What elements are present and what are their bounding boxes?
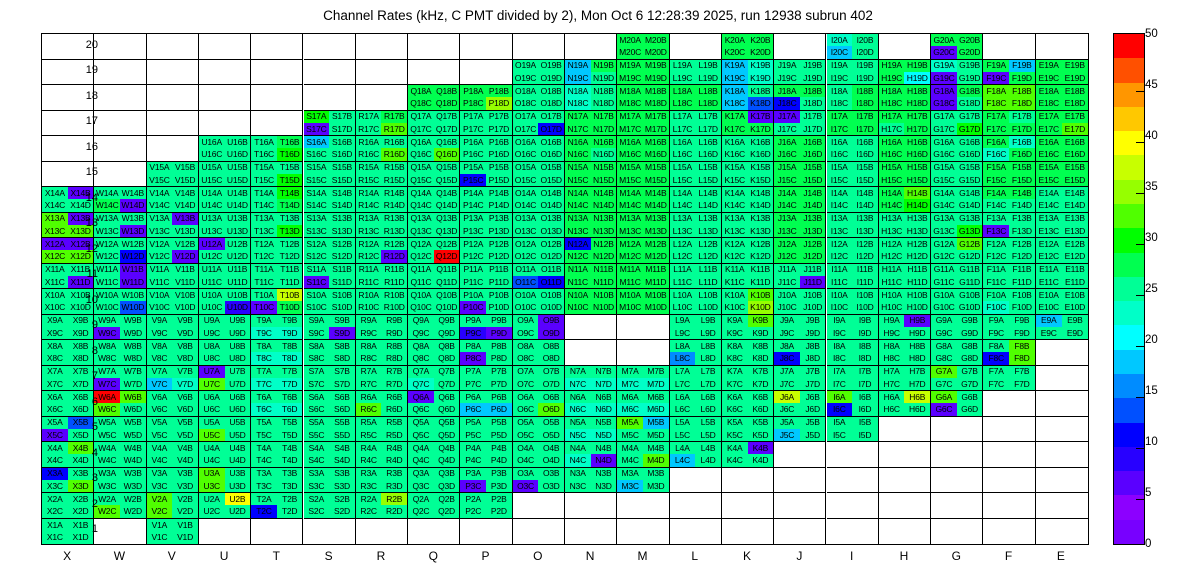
grid-cell-O20 — [513, 34, 565, 60]
channel-K11D: K11D — [748, 276, 774, 288]
channel-U14B: U14B — [225, 187, 251, 199]
channel-T2B: T2B — [277, 493, 303, 505]
grid-cell-K5: K5AK5BK5CK5D — [722, 417, 774, 443]
channel-O11D: O11D — [538, 276, 564, 288]
grid-cell-W18 — [94, 85, 146, 111]
channel-S4D: S4D — [329, 454, 355, 466]
grid-cell-V11: V11AV11BV11CV11D — [147, 264, 199, 290]
channel-O9A: O9A — [513, 315, 539, 327]
channel-R16C: R16C — [356, 148, 382, 160]
channel-G18C: G18C — [931, 97, 957, 109]
channel-K15D: K15D — [748, 174, 774, 186]
channel-L8D: L8D — [695, 352, 721, 364]
channel-G9C: G9C — [931, 327, 957, 339]
channel-I18B: I18B — [852, 85, 878, 97]
channel-F14A: F14A — [983, 187, 1009, 199]
channel-M16C: M16C — [617, 148, 643, 160]
channel-P14A: P14A — [460, 187, 486, 199]
colorbar-segment — [1114, 471, 1144, 495]
channel-O17B: O17B — [538, 111, 564, 123]
channel-R11C: R11C — [356, 276, 382, 288]
channel-L19D: L19D — [695, 72, 721, 84]
channel-T4C: T4C — [251, 454, 277, 466]
channel-P14D: P14D — [486, 199, 512, 211]
channel-E10C: E10C — [1036, 301, 1062, 313]
channel-N16C: N16C — [565, 148, 591, 160]
channel-U13B: U13B — [225, 213, 251, 225]
channel-P11D: P11D — [486, 276, 512, 288]
channel-S8C: S8C — [304, 352, 330, 364]
grid-cell-M6: M6AM6BM6CM6D — [617, 391, 669, 417]
channel-F18D: F18D — [1009, 97, 1035, 109]
channel-S13A: S13A — [304, 213, 330, 225]
channel-F16C: F16C — [983, 148, 1009, 160]
channel-S8D: S8D — [329, 352, 355, 364]
x-axis-label-E: E — [1031, 549, 1091, 563]
channel-E16D: E16D — [1062, 148, 1088, 160]
channel-H10A: H10A — [879, 289, 905, 301]
channel-R16A: R16A — [356, 136, 382, 148]
grid-cell-T5: T5AT5BT5CT5D — [251, 417, 303, 443]
channel-U5D: U5D — [225, 429, 251, 441]
channel-S9C: S9C — [304, 327, 330, 339]
channel-G15D: G15D — [957, 174, 983, 186]
channel-H12A: H12A — [879, 238, 905, 250]
channel-O17A: O17A — [513, 111, 539, 123]
channel-V5A: V5A — [147, 417, 173, 429]
grid-cell-S11: S11AS11BS11CS11D — [304, 264, 356, 290]
grid-cell-U9: U9AU9BU9CU9D — [199, 315, 251, 341]
channel-I8A: I8A — [827, 340, 853, 352]
channel-P16B: P16B — [486, 136, 512, 148]
colorbar-tick-25: 25 — [1145, 283, 1158, 295]
channel-G14B: G14B — [957, 187, 983, 199]
grid-cell-W20 — [94, 34, 146, 60]
grid-cell-S20 — [304, 34, 356, 60]
grid-cell-T9: T9AT9BT9CT9D — [251, 315, 303, 341]
channel-T9B: T9B — [277, 315, 303, 327]
channel-O4C: O4C — [513, 454, 539, 466]
channel-U14D: U14D — [225, 199, 251, 211]
channel-T10B: T10B — [277, 289, 303, 301]
channel-W12C: W12C — [94, 250, 120, 262]
channel-Q6C: Q6C — [408, 403, 434, 415]
channel-J15D: J15D — [800, 174, 826, 186]
channel-X5A: X5A — [42, 417, 68, 429]
grid-cell-I8: I8AI8BI8CI8D — [827, 340, 879, 366]
grid-cell-R4: R4AR4BR4CR4D — [356, 442, 408, 468]
channel-U12A: U12A — [199, 238, 225, 250]
grid-cell-W12: W12AW12BW12CW12D — [94, 238, 146, 264]
grid-cell-G7: G7AG7BG7CG7D — [931, 366, 983, 392]
channel-I5A: I5A — [827, 417, 853, 429]
grid-cell-H19: H19AH19BH19CH19D — [879, 60, 931, 86]
channel-Q16B: Q16B — [434, 136, 460, 148]
channel-G11C: G11C — [931, 276, 957, 288]
channel-K14A: K14A — [722, 187, 748, 199]
channel-I20D: I20D — [852, 46, 878, 58]
channel-L7B: L7B — [695, 366, 721, 378]
channel-J19C: J19C — [774, 72, 800, 84]
channel-Q3A: Q3A — [408, 468, 434, 480]
channel-P9D: P9D — [486, 327, 512, 339]
channel-J5D: J5D — [800, 429, 826, 441]
grid-cell-G20: G20AG20BG20CG20D — [931, 34, 983, 60]
channel-Q15B: Q15B — [434, 162, 460, 174]
channel-K9D: K9D — [748, 327, 774, 339]
grid-cell-Q4: Q4AQ4BQ4CQ4D — [408, 442, 460, 468]
grid-cell-O10: O10AO10BO10CO10D — [513, 289, 565, 315]
grid-cell-K12: K12AK12BK12CK12D — [722, 238, 774, 264]
channel-T8B: T8B — [277, 340, 303, 352]
channel-S7B: S7B — [329, 366, 355, 378]
channel-J16B: J16B — [800, 136, 826, 148]
channel-H18B: H18B — [904, 85, 930, 97]
channel-E17C: E17C — [1036, 123, 1062, 135]
channel-L15D: L15D — [695, 174, 721, 186]
grid-cell-Q6: Q6AQ6BQ6CQ6D — [408, 391, 460, 417]
grid-cell-J9: J9AJ9BJ9CJ9D — [774, 315, 826, 341]
channel-F7B: F7B — [1009, 366, 1035, 378]
channel-S16D: S16D — [329, 148, 355, 160]
channel-E15B: E15B — [1062, 162, 1088, 174]
channel-K17A: K17A — [722, 111, 748, 123]
channel-K11C: K11C — [722, 276, 748, 288]
channel-X14C: X14C — [42, 199, 68, 211]
grid-cell-K17: K17AK17BK17CK17D — [722, 111, 774, 137]
channel-W2D: W2D — [120, 505, 146, 517]
channel-X10C: X10C — [42, 301, 68, 313]
channel-Q14A: Q14A — [408, 187, 434, 199]
channel-F9B: F9B — [1009, 315, 1035, 327]
channel-F11D: F11D — [1009, 276, 1035, 288]
channel-E14D: E14D — [1062, 199, 1088, 211]
channel-Q10C: Q10C — [408, 301, 434, 313]
grid-cell-S18 — [304, 85, 356, 111]
channel-N12A: N12A — [565, 238, 591, 250]
channel-E16B: E16B — [1062, 136, 1088, 148]
channel-M17D: M17D — [643, 123, 669, 135]
channel-I17B: I17B — [852, 111, 878, 123]
channel-Q2D: Q2D — [434, 505, 460, 517]
channel-J12A: J12A — [774, 238, 800, 250]
channel-W3C: W3C — [94, 480, 120, 492]
channel-E16A: E16A — [1036, 136, 1062, 148]
channel-V8A: V8A — [147, 340, 173, 352]
x-axis-label-K: K — [717, 549, 777, 563]
grid-cell-L4: L4AL4BL4CL4D — [670, 442, 722, 468]
channel-E18D: E18D — [1062, 97, 1088, 109]
grid-cell-E1 — [1036, 519, 1088, 545]
grid-cell-Q1 — [408, 519, 460, 545]
channel-F11B: F11B — [1009, 264, 1035, 276]
channel-S14C: S14C — [304, 199, 330, 211]
channel-V1A: V1A — [147, 519, 173, 532]
grid-cell-N6: N6AN6BN6CN6D — [565, 391, 617, 417]
channel-F7C: F7C — [983, 378, 1009, 390]
grid-cell-E8 — [1036, 340, 1088, 366]
grid-cell-T10: T10AT10BT10CT10D — [251, 289, 303, 315]
channel-V12C: V12C — [147, 250, 173, 262]
channel-P4C: P4C — [460, 454, 486, 466]
grid-cell-O4: O4AO4BO4CO4D — [513, 442, 565, 468]
x-axis-label-H: H — [874, 549, 934, 563]
channel-R2C: R2C — [356, 505, 382, 517]
channel-F8B: F8B — [1009, 340, 1035, 352]
grid-cell-R19 — [356, 60, 408, 86]
channel-N11A: N11A — [565, 264, 591, 276]
y-axis-label-4: 4 — [70, 447, 98, 459]
channel-N16B: N16B — [591, 136, 617, 148]
channel-Q16A: Q16A — [408, 136, 434, 148]
channel-H13A: H13A — [879, 213, 905, 225]
channel-T7D: T7D — [277, 378, 303, 390]
grid-cell-F16: F16AF16BF16CF16D — [983, 136, 1035, 162]
channel-W4D: W4D — [120, 454, 146, 466]
grid-cell-H10: H10AH10BH10CH10D — [879, 289, 931, 315]
grid-cell-G8: G8AG8BG8CG8D — [931, 340, 983, 366]
grid-cell-L14: L14AL14BL14CL14D — [670, 187, 722, 213]
channel-H7A: H7A — [879, 366, 905, 378]
grid-cell-M7: M7AM7BM7CM7D — [617, 366, 669, 392]
channel-V11D: V11D — [172, 276, 198, 288]
channel-U2D: U2D — [225, 505, 251, 517]
channel-K17D: K17D — [748, 123, 774, 135]
grid-cell-K3 — [722, 468, 774, 494]
grid-cell-V15: V15AV15BV15CV15D — [147, 162, 199, 188]
channel-N10B: N10B — [591, 289, 617, 301]
channel-Q7C: Q7C — [408, 378, 434, 390]
channel-T10D: T10D — [277, 301, 303, 313]
channel-O16C: O16C — [513, 148, 539, 160]
grid-cell-O16: O16AO16BO16CO16D — [513, 136, 565, 162]
channel-T9C: T9C — [251, 327, 277, 339]
grid-cell-M12: M12AM12BM12CM12D — [617, 238, 669, 264]
channel-H6D: H6D — [904, 403, 930, 415]
channel-K10B: K10B — [748, 289, 774, 301]
channel-E19B: E19B — [1062, 60, 1088, 72]
channel-I13D: I13D — [852, 225, 878, 237]
channel-V4A: V4A — [147, 442, 173, 454]
channel-T3C: T3C — [251, 480, 277, 492]
grid-cell-H4 — [879, 442, 931, 468]
x-axis-label-X: X — [37, 549, 97, 563]
channel-T3B: T3B — [277, 468, 303, 480]
page-title: Channel Rates (kHz, C PMT divided by 2),… — [0, 8, 1196, 23]
channel-S5A: S5A — [304, 417, 330, 429]
grid-cell-E11: E11AE11BE11CE11D — [1036, 264, 1088, 290]
channel-L18A: L18A — [670, 85, 696, 97]
grid-cell-S12: S12AS12BS12CS12D — [304, 238, 356, 264]
colorbar-segment — [1114, 131, 1144, 155]
channel-V12D: V12D — [172, 250, 198, 262]
channel-Q4C: Q4C — [408, 454, 434, 466]
channel-G15A: G15A — [931, 162, 957, 174]
channel-K7C: K7C — [722, 378, 748, 390]
channel-S2A: S2A — [304, 493, 330, 505]
channel-N14A: N14A — [565, 187, 591, 199]
channel-L9B: L9B — [695, 315, 721, 327]
grid-cell-L6: L6AL6BL6CL6D — [670, 391, 722, 417]
channel-G8C: G8C — [931, 352, 957, 364]
grid-cell-V7: V7AV7BV7CV7D — [147, 366, 199, 392]
grid-cell-F3 — [983, 468, 1035, 494]
grid-cell-R7: R7AR7BR7CR7D — [356, 366, 408, 392]
grid-cell-T3: T3AT3BT3CT3D — [251, 468, 303, 494]
channel-M15A: M15A — [617, 162, 643, 174]
channel-I10B: I10B — [852, 289, 878, 301]
channel-Q11A: Q11A — [408, 264, 434, 276]
channel-S12B: S12B — [329, 238, 355, 250]
channel-H12C: H12C — [879, 250, 905, 262]
channel-V1C: V1C — [147, 531, 173, 544]
channel-J7D: J7D — [800, 378, 826, 390]
channel-J19A: J19A — [774, 60, 800, 72]
channel-S16C: S16C — [304, 148, 330, 160]
channel-M4D: M4D — [643, 454, 669, 466]
grid-cell-U19 — [199, 60, 251, 86]
grid-cell-K6: K6AK6BK6CK6D — [722, 391, 774, 417]
channel-I15D: I15D — [852, 174, 878, 186]
channel-G19B: G19B — [957, 60, 983, 72]
channel-L7C: L7C — [670, 378, 696, 390]
channel-N4B: N4B — [591, 442, 617, 454]
channel-W8B: W8B — [120, 340, 146, 352]
channel-S9D: S9D — [329, 327, 355, 339]
channel-P2C: P2C — [460, 505, 486, 517]
grid-cell-U16: U16AU16BU16CU16D — [199, 136, 251, 162]
channel-L16A: L16A — [670, 136, 696, 148]
channel-I7B: I7B — [852, 366, 878, 378]
channel-J8A: J8A — [774, 340, 800, 352]
channel-G7D: G7D — [957, 378, 983, 390]
channel-R7C: R7C — [356, 378, 382, 390]
channel-P11C: P11C — [460, 276, 486, 288]
grid-cell-S13: S13AS13BS13CS13D — [304, 213, 356, 239]
channel-J15C: J15C — [774, 174, 800, 186]
grid-cell-Q12: Q12AQ12BQ12CQ12D — [408, 238, 460, 264]
channel-N15D: N15D — [591, 174, 617, 186]
channel-V6D: V6D — [172, 403, 198, 415]
grid-cell-F18: F18AF18BF18CF18D — [983, 85, 1035, 111]
grid-cell-P3: P3AP3BP3CP3D — [460, 468, 512, 494]
grid-cell-O12: O12AO12BO12CO12D — [513, 238, 565, 264]
channel-U16C: U16C — [199, 148, 225, 160]
channel-T8A: T8A — [251, 340, 277, 352]
channel-R7B: R7B — [381, 366, 407, 378]
channel-U9D: U9D — [225, 327, 251, 339]
channel-W8C: W8C — [94, 352, 120, 364]
channel-K14D: K14D — [748, 199, 774, 211]
channel-W14C: W14C — [94, 199, 120, 211]
channel-O14C: O14C — [513, 199, 539, 211]
grid-cell-V5: V5AV5BV5CV5D — [147, 417, 199, 443]
channel-L17A: L17A — [670, 111, 696, 123]
channel-T2C: T2C — [251, 505, 277, 517]
channel-L18B: L18B — [695, 85, 721, 97]
channel-H14C: H14C — [879, 199, 905, 211]
grid-cell-R13: R13AR13BR13CR13D — [356, 213, 408, 239]
channel-E10B: E10B — [1062, 289, 1088, 301]
grid-cell-P4: P4AP4BP4CP4D — [460, 442, 512, 468]
channel-K20A: K20A — [722, 34, 748, 46]
channel-H18A: H18A — [879, 85, 905, 97]
channel-V4B: V4B — [172, 442, 198, 454]
channel-H10C: H10C — [879, 301, 905, 313]
channel-R4D: R4D — [381, 454, 407, 466]
grid-cell-N13: N13AN13BN13CN13D — [565, 213, 617, 239]
grid-cell-K19: K19AK19BK19CK19D — [722, 60, 774, 86]
channel-M12B: M12B — [643, 238, 669, 250]
channel-M5A: M5A — [617, 417, 643, 429]
channel-M11A: M11A — [617, 264, 643, 276]
channel-J6C: J6C — [774, 403, 800, 415]
grid-cell-O3: O3AO3BO3CO3D — [513, 468, 565, 494]
grid-cell-U5: U5AU5BU5CU5D — [199, 417, 251, 443]
grid-cell-I7: I7AI7BI7CI7D — [827, 366, 879, 392]
channel-W2C: W2C — [94, 505, 120, 517]
grid-cell-G9: G9AG9BG9CG9D — [931, 315, 983, 341]
channel-M19C: M19C — [617, 72, 643, 84]
colorbar-segment — [1114, 447, 1144, 471]
grid-cell-J17: J17AJ17BJ17CJ17D — [774, 111, 826, 137]
channel-W13C: W13C — [94, 225, 120, 237]
channel-O7C: O7C — [513, 378, 539, 390]
channel-X4A: X4A — [42, 442, 68, 454]
channel-J14B: J14B — [800, 187, 826, 199]
channel-E10D: E10D — [1062, 301, 1088, 313]
channel-R13B: R13B — [381, 213, 407, 225]
channel-H15D: H15D — [904, 174, 930, 186]
channel-F14D: F14D — [1009, 199, 1035, 211]
y-axis-label-9: 9 — [70, 319, 98, 331]
grid-cell-H15: H15AH15BH15CH15D — [879, 162, 931, 188]
channel-Q18B: Q18B — [434, 85, 460, 97]
channel-R3C: R3C — [356, 480, 382, 492]
channel-K10A: K10A — [722, 289, 748, 301]
channel-S7C: S7C — [304, 378, 330, 390]
grid-cell-U15: U15AU15BU15CU15D — [199, 162, 251, 188]
channel-E9D: E9D — [1062, 327, 1088, 339]
channel-N5A: N5A — [565, 417, 591, 429]
channel-I17A: I17A — [827, 111, 853, 123]
channel-P5C: P5C — [460, 429, 486, 441]
channel-R16B: R16B — [381, 136, 407, 148]
channel-Q9B: Q9B — [434, 315, 460, 327]
grid-cell-G1 — [931, 519, 983, 545]
channel-H16C: H16C — [879, 148, 905, 160]
y-axis-label-18: 18 — [70, 90, 98, 102]
colorbar-tick-20: 20 — [1145, 334, 1158, 346]
channel-M13A: M13A — [617, 213, 643, 225]
grid-cell-F6 — [983, 391, 1035, 417]
channel-I18A: I18A — [827, 85, 853, 97]
channel-U12D: U12D — [225, 250, 251, 262]
channel-R5D: R5D — [381, 429, 407, 441]
channel-L7A: L7A — [670, 366, 696, 378]
channel-F15C: F15C — [983, 174, 1009, 186]
grid-cell-O15: O15AO15BO15CO15D — [513, 162, 565, 188]
channel-F17A: F17A — [983, 111, 1009, 123]
channel-R2D: R2D — [381, 505, 407, 517]
grid-cell-N3: N3AN3BN3CN3D — [565, 468, 617, 494]
channel-K5A: K5A — [722, 417, 748, 429]
channel-I8C: I8C — [827, 352, 853, 364]
grid-cell-Q18: Q18AQ18BQ18CQ18D — [408, 85, 460, 111]
channel-N13A: N13A — [565, 213, 591, 225]
channel-T2D: T2D — [277, 505, 303, 517]
channel-I14D: I14D — [852, 199, 878, 211]
